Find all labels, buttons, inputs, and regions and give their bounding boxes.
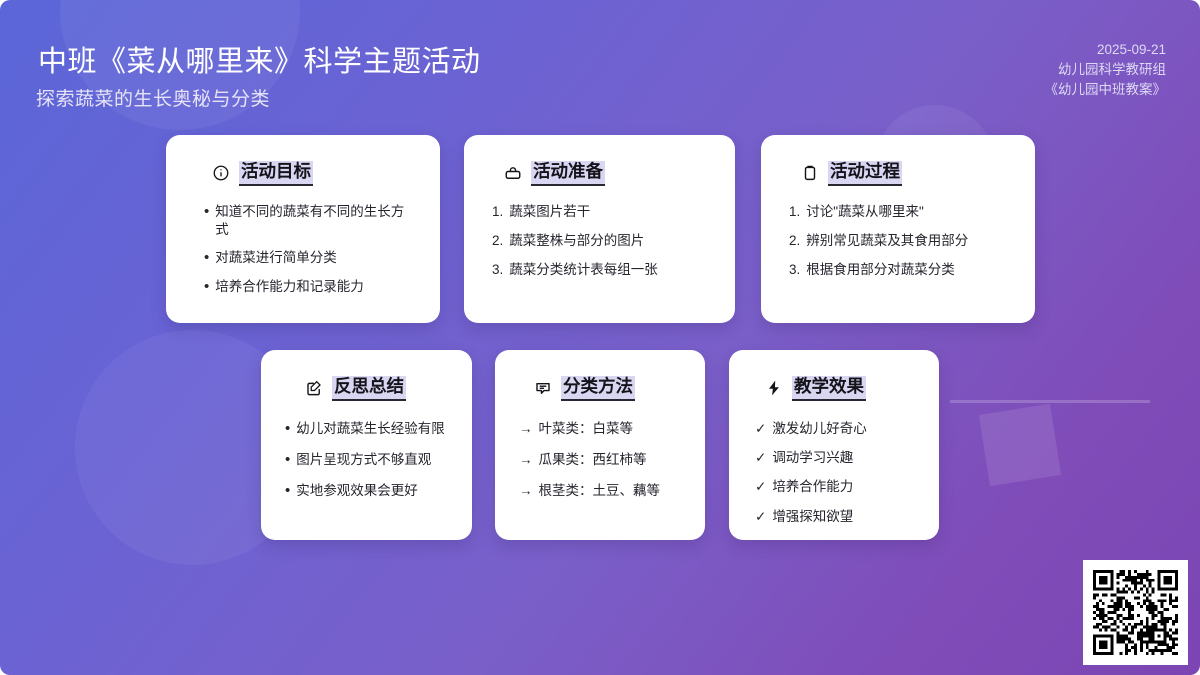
decorative-line [950, 400, 1150, 403]
bullet-mark: • [285, 482, 290, 500]
card-list: 1. 蔬菜图片若干 2. 蔬菜整株与部分的图片 3. 蔬菜分类统计表每组一张 [486, 203, 713, 280]
card-title: 活动目标 [239, 161, 313, 186]
list-item-text: 图片呈现方式不够直观 [296, 451, 450, 469]
list-item: ✓ 调动学习兴趣 [755, 449, 917, 467]
list-item-text: 蔬菜整株与部分的图片 [509, 232, 713, 250]
list-item: • 幼儿对蔬菜生长经验有限 [285, 420, 450, 438]
list-item: → 根茎类：土豆、藕等 [519, 482, 683, 500]
meta-organization: 幼儿园科学教研组 [1045, 60, 1167, 80]
card-activity-goals[interactable]: 活动目标 • 知道不同的蔬菜有不同的生长方式 • 对蔬菜进行简单分类 • 培养合… [166, 135, 440, 323]
arrow-mark: → [519, 420, 533, 438]
list-item: • 图片呈现方式不够直观 [285, 451, 450, 469]
list-item-text: 增强探知欲望 [772, 508, 917, 526]
card-classification-method[interactable]: 分类方法 → 叶菜类：白菜等 → 瓜果类：西红柿等 → 根茎类：土豆、藕等 [495, 350, 705, 540]
order-mark: 1. [492, 203, 503, 221]
list-item: 2. 辨别常见蔬菜及其食用部分 [789, 232, 1013, 250]
check-mark: ✓ [755, 420, 766, 438]
arrow-mark: → [519, 451, 533, 469]
card-title: 反思总结 [332, 376, 406, 401]
list-item-text: 培养合作能力和记录能力 [215, 278, 416, 296]
order-mark: 2. [492, 232, 503, 250]
bullet-mark: • [204, 203, 209, 221]
card-reflection-summary[interactable]: 反思总结 • 幼儿对蔬菜生长经验有限 • 图片呈现方式不够直观 • 实地参观效果… [261, 350, 472, 540]
list-item-text: 根据食用部分对蔬菜分类 [806, 261, 1013, 279]
bag-icon [504, 164, 522, 182]
list-item-text: 蔬菜分类统计表每组一张 [509, 261, 713, 279]
clipboard-icon [801, 164, 819, 182]
list-item: 1. 讨论"蔬菜从哪里来" [789, 203, 1013, 221]
card-title: 活动过程 [828, 161, 902, 186]
speech-bubble-icon [534, 379, 552, 397]
list-item: • 实地参观效果会更好 [285, 482, 450, 500]
list-item: • 知道不同的蔬菜有不同的生长方式 [204, 203, 416, 239]
list-item-text: 辨别常见蔬菜及其食用部分 [806, 232, 1013, 250]
bullet-mark: • [204, 278, 209, 296]
qr-code-image [1093, 570, 1178, 655]
card-header: 活动准备 [486, 161, 713, 186]
list-item-text: 瓜果类：西红柿等 [539, 451, 684, 469]
card-header: 分类方法 [517, 376, 683, 401]
order-mark: 2. [789, 232, 800, 250]
page-title: 中班《菜从哪里来》科学主题活动 [38, 38, 481, 80]
list-item: • 对蔬菜进行简单分类 [204, 249, 416, 267]
list-item: • 培养合作能力和记录能力 [204, 278, 416, 296]
card-title: 分类方法 [561, 376, 635, 401]
card-title: 教学效果 [792, 376, 866, 401]
list-item-text: 对蔬菜进行简单分类 [215, 249, 416, 267]
list-item: 2. 蔬菜整株与部分的图片 [492, 232, 713, 250]
list-item: 3. 根据食用部分对蔬菜分类 [789, 261, 1013, 279]
card-teaching-effect[interactable]: 教学效果 ✓ 激发幼儿好奇心 ✓ 调动学习兴趣 ✓ 培养合作能力 ✓ 增强探知欲… [729, 350, 939, 540]
decorative-square [979, 404, 1061, 486]
list-item: → 瓜果类：西红柿等 [519, 451, 683, 469]
slide-root: 中班《菜从哪里来》科学主题活动 探索蔬菜的生长奥秘与分类 2025-09-21 … [0, 0, 1200, 675]
bullet-mark: • [285, 420, 290, 438]
card-activity-process[interactable]: 活动过程 1. 讨论"蔬菜从哪里来" 2. 辨别常见蔬菜及其食用部分 3. 根据… [761, 135, 1035, 323]
info-circle-icon [212, 164, 230, 182]
card-list: • 知道不同的蔬菜有不同的生长方式 • 对蔬菜进行简单分类 • 培养合作能力和记… [190, 203, 416, 296]
bullet-mark: • [285, 451, 290, 469]
bullet-mark: • [204, 249, 209, 267]
list-item-text: 培养合作能力 [772, 478, 917, 496]
list-item-text: 调动学习兴趣 [772, 449, 917, 467]
order-mark: 3. [789, 261, 800, 279]
list-item-text: 讨论"蔬菜从哪里来" [806, 203, 1013, 221]
card-title: 活动准备 [531, 161, 605, 186]
list-item-text: 根茎类：土豆、藕等 [539, 482, 684, 500]
check-mark: ✓ [755, 508, 766, 526]
arrow-mark: → [519, 482, 533, 500]
card-list: ✓ 激发幼儿好奇心 ✓ 调动学习兴趣 ✓ 培养合作能力 ✓ 增强探知欲望 [751, 420, 917, 526]
lightning-bolt-icon [765, 379, 783, 397]
check-mark: ✓ [755, 449, 766, 467]
list-item-text: 知道不同的蔬菜有不同的生长方式 [215, 203, 416, 239]
header-meta: 2025-09-21 幼儿园科学教研组 《幼儿园中班教案》 [1045, 40, 1167, 100]
order-mark: 3. [492, 261, 503, 279]
list-item: 1. 蔬菜图片若干 [492, 203, 713, 221]
list-item: 3. 蔬菜分类统计表每组一张 [492, 261, 713, 279]
list-item: → 叶菜类：白菜等 [519, 420, 683, 438]
order-mark: 1. [789, 203, 800, 221]
list-item-text: 幼儿对蔬菜生长经验有限 [296, 420, 450, 438]
card-header: 教学效果 [751, 376, 917, 401]
card-list: 1. 讨论"蔬菜从哪里来" 2. 辨别常见蔬菜及其食用部分 3. 根据食用部分对… [783, 203, 1013, 280]
card-header: 活动目标 [190, 161, 416, 186]
card-header: 活动过程 [783, 161, 1013, 186]
meta-date: 2025-09-21 [1045, 40, 1167, 60]
list-item-text: 激发幼儿好奇心 [772, 420, 917, 438]
list-item-text: 实地参观效果会更好 [296, 482, 450, 500]
page-subtitle: 探索蔬菜的生长奥秘与分类 [36, 84, 270, 111]
list-item-text: 叶菜类：白菜等 [539, 420, 684, 438]
list-item: ✓ 增强探知欲望 [755, 508, 917, 526]
list-item: ✓ 激发幼儿好奇心 [755, 420, 917, 438]
edit-square-icon [305, 379, 323, 397]
check-mark: ✓ [755, 478, 766, 496]
qr-code[interactable] [1083, 560, 1188, 665]
card-activity-preparation[interactable]: 活动准备 1. 蔬菜图片若干 2. 蔬菜整株与部分的图片 3. 蔬菜分类统计表每… [464, 135, 735, 323]
card-list: → 叶菜类：白菜等 → 瓜果类：西红柿等 → 根茎类：土豆、藕等 [517, 420, 683, 501]
card-list: • 幼儿对蔬菜生长经验有限 • 图片呈现方式不够直观 • 实地参观效果会更好 [283, 420, 450, 501]
meta-source: 《幼儿园中班教案》 [1045, 80, 1167, 100]
list-item-text: 蔬菜图片若干 [509, 203, 713, 221]
list-item: ✓ 培养合作能力 [755, 478, 917, 496]
card-header: 反思总结 [283, 376, 450, 401]
slide-header: 中班《菜从哪里来》科学主题活动 探索蔬菜的生长奥秘与分类 2025-09-21 … [0, 0, 1200, 125]
